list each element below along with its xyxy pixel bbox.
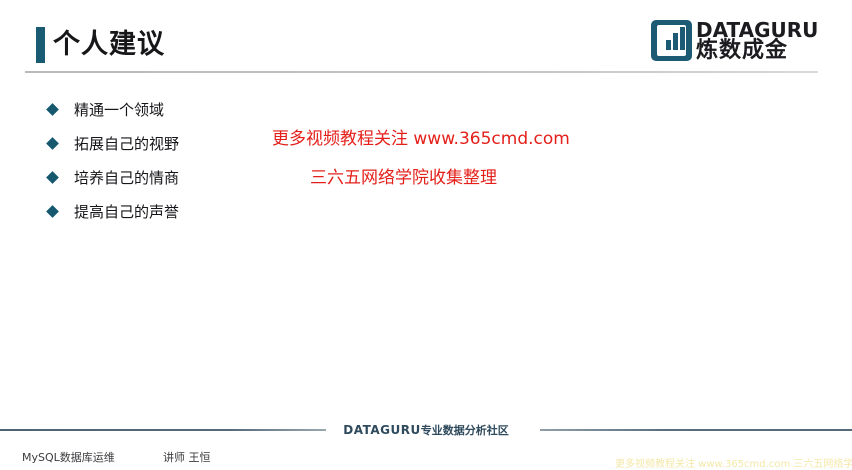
- list-item: 提高自己的声誉: [44, 195, 364, 229]
- diamond-bullet-icon: [46, 205, 59, 218]
- footer-brand-chinese: 专业数据分析社区: [421, 424, 509, 437]
- promo-line-1: 更多视频教程关注 www.365cmd.com: [272, 126, 612, 152]
- list-item-label: 精通一个领域: [74, 93, 164, 127]
- diamond-bullet-icon: [46, 103, 59, 116]
- title-accent-bar: [36, 27, 45, 63]
- slide-header: 个人建议 DATAGURU 炼数成金: [0, 0, 852, 78]
- logo-mark-inner: [657, 25, 686, 56]
- logo-bar-2: [673, 33, 678, 50]
- page-title: 个人建议: [53, 26, 165, 64]
- logo-bar-3: [680, 27, 685, 50]
- dataguru-logo: DATAGURU 炼数成金: [651, 19, 811, 63]
- diamond-bullet-icon: [46, 171, 59, 184]
- footer-lecturer-name: 讲师 王恒: [163, 450, 211, 465]
- slide-canvas: 个人建议 DATAGURU 炼数成金 精通一个领域 拓展自己的视野: [0, 0, 852, 470]
- logo-chinese-text: 炼数成金: [696, 38, 788, 63]
- promo-overlay: 更多视频教程关注 www.365cmd.com 三六五网络学院收集整理: [272, 126, 612, 191]
- list-item-label: 培养自己的情商: [74, 161, 179, 195]
- footer-brand: DATAGURU专业数据分析社区: [0, 422, 852, 439]
- list-item-label: 提高自己的声誉: [74, 195, 179, 229]
- footer-brand-english: DATAGURU: [343, 423, 420, 437]
- footer-watermark-text: 更多视频教程关注 www.365cmd.com 三六五网络学院: [615, 459, 852, 470]
- logo-bar-1: [666, 40, 671, 50]
- footer-course-name: MySQL数据库运维: [22, 450, 115, 465]
- list-item: 精通一个领域: [44, 93, 364, 127]
- promo-line-2: 三六五网络学院收集整理: [310, 165, 612, 191]
- list-item-label: 拓展自己的视野: [74, 127, 179, 161]
- header-divider: [25, 71, 818, 73]
- diamond-bullet-icon: [46, 137, 59, 150]
- bar-chart-logo-mark-icon: [651, 20, 692, 61]
